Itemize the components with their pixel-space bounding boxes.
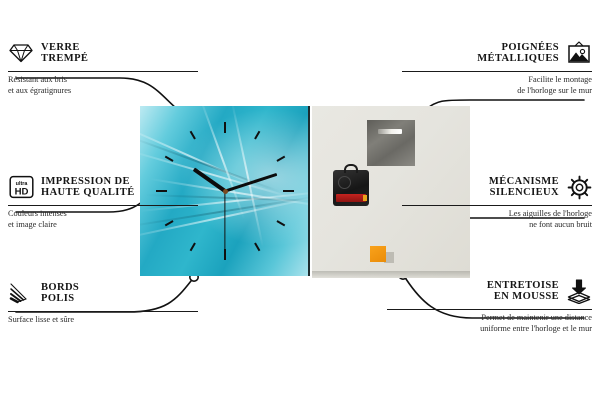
feature-header: MÉCANISME SILENCIEUX <box>402 172 592 202</box>
clock-tick <box>224 122 226 133</box>
picture-frame-hanger-icon <box>566 40 592 66</box>
feature-poignees-metalliques: POIGNÉES MÉTALLIQUES Facilite le montage… <box>402 38 592 96</box>
clock-tick <box>254 131 260 140</box>
clock-tick <box>276 220 285 226</box>
clock-tick <box>276 156 285 162</box>
mechanism-hanging-loop <box>344 164 358 173</box>
svg-text:HD: HD <box>14 186 28 197</box>
clock-tick <box>254 242 260 251</box>
feature-subtitle: Permet de maintenir une distance uniform… <box>387 313 592 334</box>
clock-minute-hand <box>225 173 277 193</box>
feature-title: BORDS POLIS <box>41 282 79 305</box>
feature-divider <box>387 309 592 310</box>
feature-verre-trempe: VERRE TREMPÉ Résistant aux bris et aux é… <box>8 38 198 96</box>
feature-impression-haute-qualite: ultra HD IMPRESSION DE HAUTE QUALITÉ Cou… <box>8 172 198 230</box>
feature-header: ENTRETOISE EN MOUSSE <box>387 276 592 306</box>
feature-title: ENTRETOISE EN MOUSSE <box>487 280 559 303</box>
battery-positive-tip <box>363 195 367 201</box>
feature-header: BORDS POLIS <box>8 278 198 308</box>
feature-header: ultra HD IMPRESSION DE HAUTE QUALITÉ <box>8 172 198 202</box>
feature-header: VERRE TREMPÉ <box>8 38 198 68</box>
ultra-hd-icon: ultra HD <box>8 174 34 200</box>
feature-subtitle: Surface lisse et sûre <box>8 315 198 326</box>
feature-subtitle: Les aiguilles de l'horloge ne font aucun… <box>402 209 592 230</box>
infographic-canvas: VERRE TREMPÉ Résistant aux bris et aux é… <box>0 0 600 400</box>
hanger-slot <box>378 129 402 134</box>
feature-title: IMPRESSION DE HAUTE QUALITÉ <box>41 176 135 199</box>
battery <box>336 194 366 202</box>
clock-center-cap <box>223 189 228 194</box>
feature-divider <box>402 71 592 72</box>
polished-edges-icon <box>8 280 34 306</box>
feature-subtitle: Résistant aux bris et aux égratignures <box>8 75 198 96</box>
clock-second-hand <box>224 191 225 251</box>
clock-mechanism-box <box>333 170 369 206</box>
feature-divider <box>8 205 198 206</box>
feature-title: MÉCANISME SILENCIEUX <box>489 176 559 199</box>
diamond-icon <box>8 40 34 66</box>
clock-tick <box>190 242 196 251</box>
clock-tick <box>165 156 174 162</box>
feature-subtitle: Facilite le montage de l'horloge sur le … <box>402 75 592 96</box>
feature-title: POIGNÉES MÉTALLIQUES <box>477 42 559 65</box>
metallic-hanger-plate <box>367 120 415 166</box>
feature-entretoise-en-mousse: ENTRETOISE EN MOUSSE Permet de maintenir… <box>387 276 592 334</box>
feature-title: VERRE TREMPÉ <box>41 42 88 65</box>
feature-divider <box>8 71 198 72</box>
feature-mecanisme-silencieux: MÉCANISME SILENCIEUX Les aiguilles de l'… <box>402 172 592 230</box>
clock-tick <box>190 131 196 140</box>
gear-icon <box>566 174 592 200</box>
feature-divider <box>402 205 592 206</box>
mechanism-dial <box>338 176 351 189</box>
foam-spacer <box>370 246 386 262</box>
feature-bords-polis: BORDS POLIS Surface lisse et sûre <box>8 278 198 326</box>
feature-divider <box>8 311 198 312</box>
clock-tick <box>283 190 294 192</box>
feature-header: POIGNÉES MÉTALLIQUES <box>402 38 592 68</box>
feature-subtitle: Couleurs intenses et image claire <box>8 209 198 230</box>
foam-spacer-arrow-icon <box>566 278 592 304</box>
